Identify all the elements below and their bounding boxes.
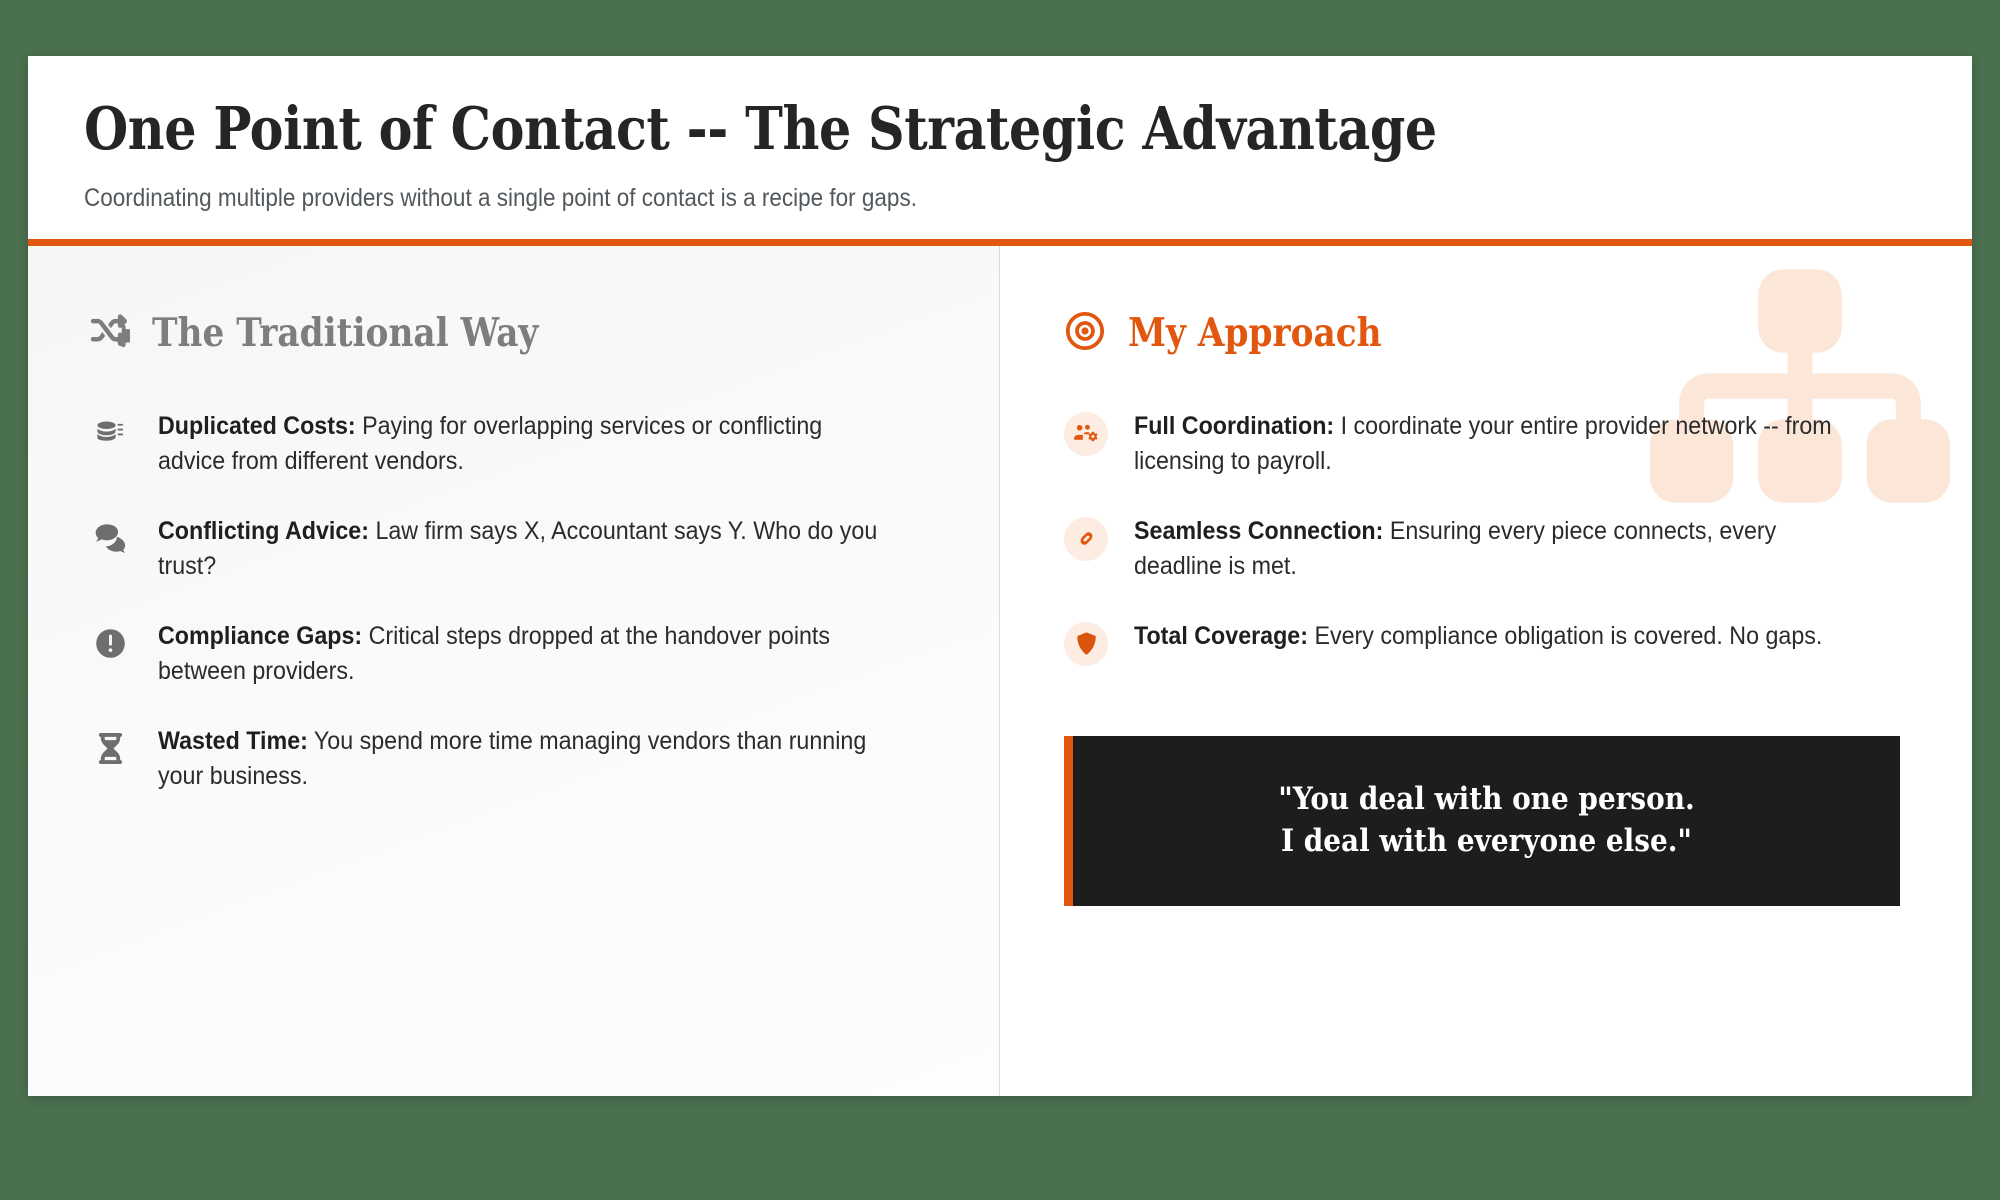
my-approach-list: Full Coordination: I coordinate your ent… <box>1064 409 1900 666</box>
list-item-text: Compliance Gaps: Critical steps dropped … <box>158 619 884 690</box>
my-approach-heading: My Approach <box>1064 310 1900 357</box>
quote-line-2: I deal with everyone else." <box>1145 820 1828 862</box>
page-subtitle: Coordinating multiple providers without … <box>84 182 1733 215</box>
list-item-text: Conflicting Advice: Law firm says X, Acc… <box>158 514 884 585</box>
bullseye-icon <box>1064 310 1106 357</box>
list-item: Compliance Gaps: Critical steps dropped … <box>88 619 939 690</box>
shuffle-icon <box>88 310 130 357</box>
list-item-text: Full Coordination: I coordinate your ent… <box>1134 409 1846 480</box>
list-item-term: Total Coverage: <box>1134 622 1308 650</box>
list-item-term: Duplicated Costs: <box>158 412 356 440</box>
list-item-text: Wasted Time: You spend more time managin… <box>158 724 884 795</box>
my-approach-heading-label: My Approach <box>1128 314 1382 353</box>
my-approach-column: My Approach <box>1000 246 1972 1096</box>
list-item: Seamless Connection: Ensuring every piec… <box>1064 514 1900 585</box>
traditional-way-heading-label: The Traditional Way <box>152 314 538 353</box>
comments-icon <box>88 517 132 561</box>
list-item-text: Total Coverage: Every compliance obligat… <box>1134 619 1846 655</box>
list-item-term: Conflicting Advice: <box>158 517 369 545</box>
content-card: One Point of Contact -- The Strategic Ad… <box>28 56 1972 1096</box>
page-title: One Point of Contact -- The Strategic Ad… <box>84 96 1660 162</box>
list-item: Conflicting Advice: Law firm says X, Acc… <box>88 514 939 585</box>
list-item: Duplicated Costs: Paying for overlapping… <box>88 409 939 480</box>
shield-icon <box>1064 622 1108 666</box>
slide-header: One Point of Contact -- The Strategic Ad… <box>28 56 1972 239</box>
list-item-term: Compliance Gaps: <box>158 622 362 650</box>
highlight-quote-box: "You deal with one person. I deal with e… <box>1064 736 1900 906</box>
traditional-way-list: Duplicated Costs: Paying for overlapping… <box>88 409 939 795</box>
list-item-term: Wasted Time: <box>158 727 308 755</box>
exclamation-circle-icon <box>88 622 132 666</box>
traditional-way-column: The Traditional Way <box>28 246 1000 1096</box>
list-item: Total Coverage: Every compliance obligat… <box>1064 619 1900 666</box>
hourglass-icon <box>88 727 132 771</box>
list-item-body: Every compliance obligation is covered. … <box>1308 622 1822 650</box>
list-item-term: Seamless Connection: <box>1134 517 1383 545</box>
link-icon <box>1064 517 1108 561</box>
accent-divider-bar <box>28 239 1972 246</box>
list-item-text: Seamless Connection: Ensuring every piec… <box>1134 514 1846 585</box>
quote-line-1: "You deal with one person. <box>1145 778 1828 820</box>
list-item-term: Full Coordination: <box>1134 412 1334 440</box>
two-column-body: The Traditional Way <box>28 246 1972 1096</box>
slide-root: One Point of Contact -- The Strategic Ad… <box>0 0 2000 1200</box>
list-item-text: Duplicated Costs: Paying for overlapping… <box>158 409 884 480</box>
list-item: Full Coordination: I coordinate your ent… <box>1064 409 1900 480</box>
traditional-way-heading: The Traditional Way <box>88 310 939 357</box>
list-item: Wasted Time: You spend more time managin… <box>88 724 939 795</box>
users-gear-icon <box>1064 412 1108 456</box>
coins-icon <box>88 412 132 456</box>
